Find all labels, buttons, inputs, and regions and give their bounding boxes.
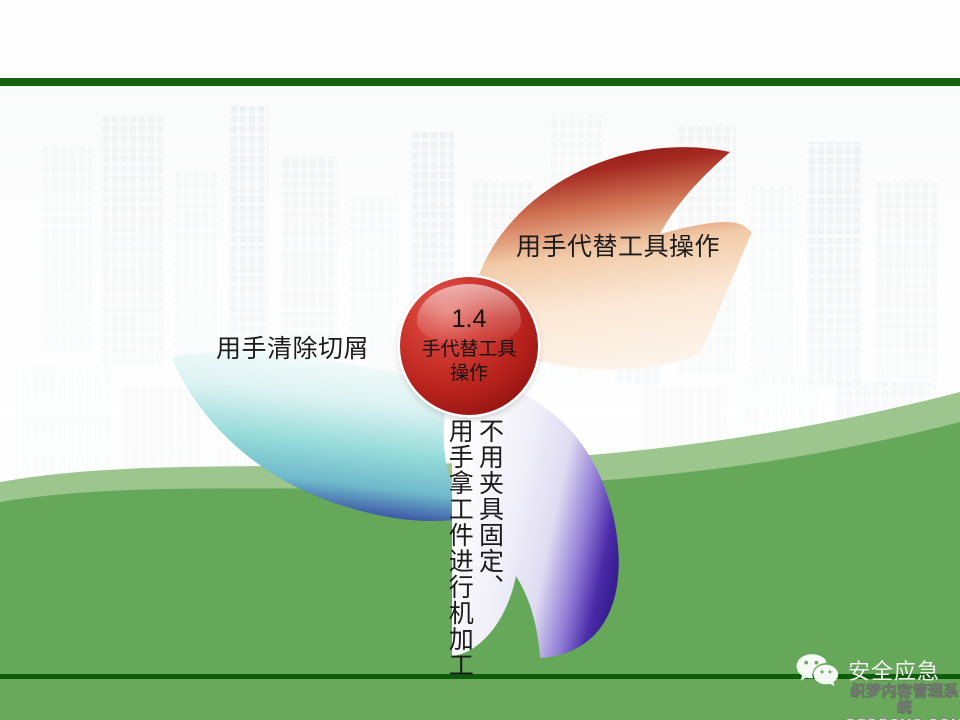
section-title: 手代替工具操作 xyxy=(415,338,523,384)
section-number: 1.4 xyxy=(452,307,487,332)
cms-watermark: 织梦内容管理系统 DEDECMS.COM xyxy=(846,684,960,720)
petal-label-bottom-col-1: 不用夹具固定、 xyxy=(476,418,502,600)
petal-label-left: 用手清除切屑 xyxy=(216,329,369,365)
center-sphere[interactable]: 1.4 手代替工具操作 xyxy=(400,277,538,415)
petal-label-top-right: 用手代替工具操作 xyxy=(516,227,720,263)
petal-label-bottom: 不用夹具固定、 用手拿工件进行机加工 xyxy=(446,418,503,678)
wechat-icon xyxy=(795,652,839,688)
cms-watermark-en: DEDECMS.COM xyxy=(846,716,960,720)
cms-watermark-cn: 织梦内容管理系统 xyxy=(846,684,960,716)
sphere-text-block: 1.4 手代替工具操作 xyxy=(400,277,538,415)
wechat-account-name: 安全应急 xyxy=(848,654,940,686)
slide-canvas: 1.4 手代替工具操作 用手代替工具操作 用手清除切屑 不用夹具固定、 用手拿工… xyxy=(0,0,960,720)
top-margin-band xyxy=(0,0,960,78)
petal-label-bottom-col-2: 用手拿工件进行机加工 xyxy=(446,418,472,678)
top-green-rule xyxy=(0,78,960,86)
